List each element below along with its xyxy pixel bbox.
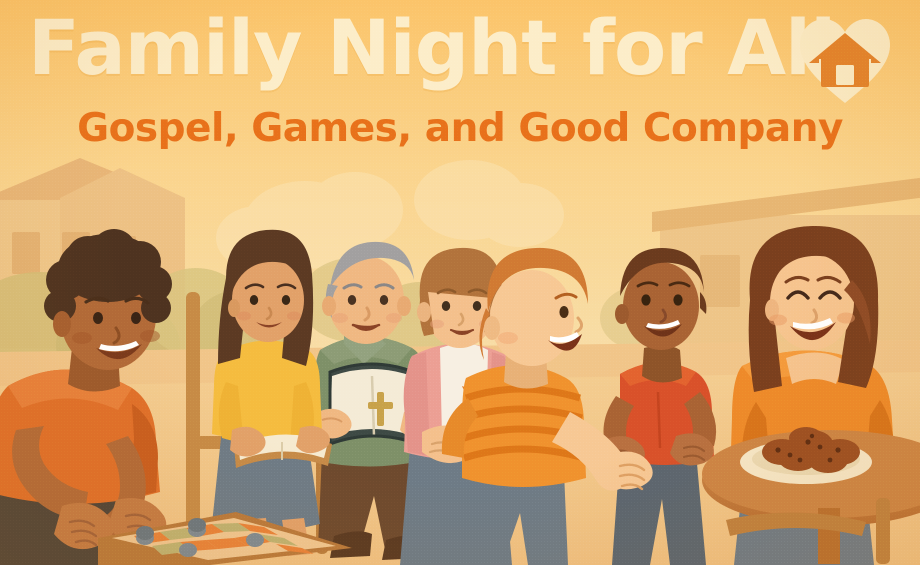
header-block: Family Night for All Gospel, Games, and …: [0, 0, 920, 170]
person-elderly-man: [312, 242, 434, 560]
poster-canvas: Family Night for All Gospel, Games, and …: [0, 0, 920, 565]
chocolate-chip-cookies: [762, 427, 860, 473]
page-title: Family Night for All: [28, 10, 835, 86]
person-woman-orange-sweater: [730, 226, 896, 565]
right-building: [652, 176, 920, 365]
person-boy-red-shirt: [600, 248, 716, 565]
orange-cat: [458, 376, 534, 447]
person-boy-striped-shirt: [442, 248, 653, 565]
open-bible-with-cross: [330, 364, 418, 444]
game-pieces: [136, 523, 264, 557]
page-subtitle: Gospel, Games, and Good Company: [0, 108, 920, 150]
person-man-orange-tshirt: [0, 229, 172, 565]
left-building: [0, 158, 185, 350]
person-elderly-woman-pink: [400, 248, 520, 565]
cookie-chips: [775, 434, 840, 463]
wooden-chair-left: [186, 292, 308, 540]
round-table-with-cookies: [702, 427, 920, 564]
wooden-chair-mid: [316, 404, 328, 554]
open-book-girl: [234, 434, 332, 468]
bushes-and-trees: [0, 258, 680, 391]
chair-right: [726, 498, 890, 564]
heart-house-icon: [797, 13, 893, 109]
person-girl-yellow-sweater: [212, 230, 332, 556]
checkerboard-game: [98, 512, 352, 565]
cross-icon: [368, 392, 393, 426]
cloud-puffs: [85, 160, 564, 565]
